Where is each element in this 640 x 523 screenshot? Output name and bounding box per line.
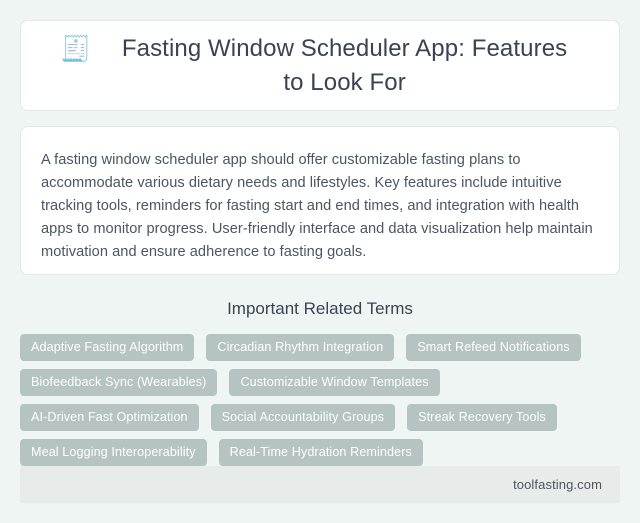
title-row: 🧾 Fasting Window Scheduler App: Features… <box>47 32 593 100</box>
description-text: A fasting window scheduler app should of… <box>41 149 599 263</box>
footer-bar: toolfasting.com <box>20 466 620 503</box>
related-terms-heading: Important Related Terms <box>20 298 620 320</box>
footer-site-name: toolfasting.com <box>513 477 602 492</box>
page-title: Fasting Window Scheduler App: Features t… <box>110 32 580 100</box>
term-tag[interactable]: Biofeedback Sync (Wearables) <box>20 369 217 396</box>
term-tag[interactable]: Smart Refeed Notifications <box>406 334 580 361</box>
term-tag[interactable]: AI-Driven Fast Optimization <box>20 404 199 431</box>
term-tag[interactable]: Real-Time Hydration Reminders <box>219 439 423 466</box>
term-tag[interactable]: Adaptive Fasting Algorithm <box>20 334 194 361</box>
term-tag[interactable]: Meal Logging Interoperability <box>20 439 207 466</box>
related-terms-list: Adaptive Fasting Algorithm Circadian Rhy… <box>20 334 620 466</box>
term-tag[interactable]: Streak Recovery Tools <box>407 404 557 431</box>
term-tag[interactable]: Social Accountability Groups <box>211 404 395 431</box>
term-tag[interactable]: Circadian Rhythm Integration <box>206 334 394 361</box>
receipt-icon: 🧾 <box>60 32 91 66</box>
page-root: 🧾 Fasting Window Scheduler App: Features… <box>0 0 640 523</box>
title-card: 🧾 Fasting Window Scheduler App: Features… <box>20 20 620 111</box>
description-card: A fasting window scheduler app should of… <box>20 126 620 275</box>
term-tag[interactable]: Customizable Window Templates <box>229 369 439 396</box>
